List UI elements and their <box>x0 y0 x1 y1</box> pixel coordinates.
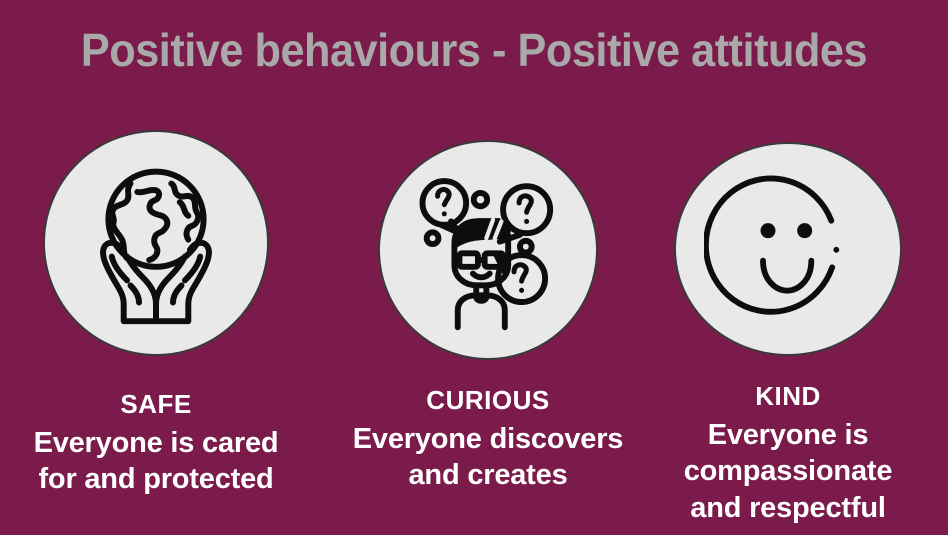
value-keyword: KIND <box>638 382 938 411</box>
value-description: Everyone discovers and creates <box>338 421 638 495</box>
value-keyword: SAFE <box>6 390 306 419</box>
description-line: compassionate <box>638 453 938 490</box>
globe-in-hands-icon <box>71 158 241 328</box>
value-description: Everyone is cared for and protected <box>6 425 306 499</box>
icon-badge-safe <box>43 130 269 356</box>
description-line: Everyone is cared <box>6 425 306 462</box>
value-column-kind: KIND Everyone is compassionate and respe… <box>638 130 938 527</box>
value-keyword: CURIOUS <box>338 386 638 415</box>
person-with-question-bubbles-icon <box>404 166 572 334</box>
description-line: for and protected <box>6 461 306 498</box>
icon-badge-kind <box>674 142 902 356</box>
page-title: Positive behaviours - Positive attitudes <box>28 24 919 77</box>
description-line: Everyone discovers <box>338 421 638 458</box>
description-line: Everyone is <box>638 417 938 454</box>
value-description: Everyone is compassionate and respectful <box>638 417 938 527</box>
icon-badge-curious <box>378 140 598 360</box>
description-line: and creates <box>338 457 638 494</box>
smiley-face-icon <box>704 169 872 329</box>
value-column-curious: CURIOUS Everyone discovers and creates <box>338 130 638 494</box>
slide-canvas: Positive behaviours - Positive attitudes <box>0 0 948 535</box>
value-column-safe: SAFE Everyone is cared for and protected <box>6 130 306 498</box>
description-line: and respectful <box>638 490 938 527</box>
